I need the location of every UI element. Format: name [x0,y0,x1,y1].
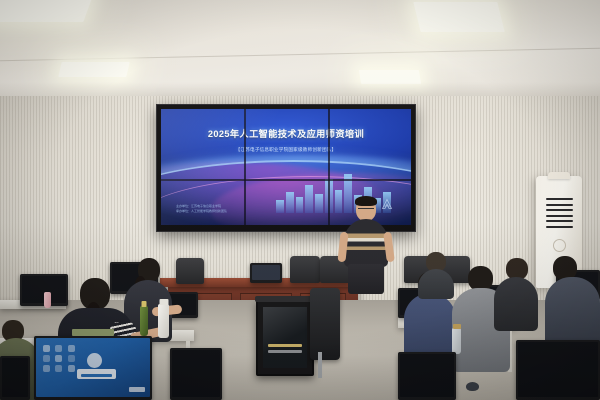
classroom-photo-scene: 2025年人工智能技术及应用师资培训 【江苏电子信息职业学院国家级教师创新团队】… [0,0,600,400]
presentation-footer: 主办单位：江苏电子信息职业学院 承办单位：人工智能学院教师创新团队 [176,204,227,213]
desktop-icon [43,345,50,352]
desktop-icon [55,365,62,372]
login-dialog[interactable] [77,369,116,380]
white-thermos[interactable] [158,304,169,338]
desktop-icon [68,355,75,362]
desktop-icon [68,365,75,372]
ceiling [0,0,600,108]
glasses-icon [358,208,374,211]
windows-login-screen[interactable] [36,338,150,397]
monitor-asset-label [72,329,114,336]
shirt [545,277,600,347]
ceiling-light-panel [0,0,93,22]
monitor[interactable] [398,352,456,400]
panel-seam-vertical [328,109,330,225]
desktop-icon [55,345,62,352]
monitor[interactable] [516,340,600,400]
presenter-hair [355,196,377,206]
ceiling-light-panel [359,70,421,84]
attendee-far-right-man [545,256,600,346]
presenter-trousers [348,264,384,294]
desktop-icons [43,345,77,386]
desktop-icon [43,355,50,362]
pink-cup[interactable] [44,292,51,308]
desktop-icon [68,345,75,352]
rack-patch-panel [268,344,303,347]
bottle-cap [159,299,168,305]
chair-post [318,352,322,378]
computer-mouse[interactable] [466,382,479,391]
desktop-icon [55,355,62,362]
air-conditioner-top-cap [548,172,570,179]
presentation-title: 2025年人工智能技术及应用师资培训 [161,126,411,140]
podium-laptop[interactable] [250,263,282,283]
bottle-cap [453,324,461,329]
taskbar-item[interactable] [129,387,145,392]
vacuum-cup[interactable] [452,328,461,354]
green-glass-bottle[interactable] [140,306,148,336]
network-equipment-rack[interactable] [256,300,314,376]
user-avatar-icon [87,353,102,368]
attendee-back-right-man [494,258,538,328]
foreground-monitor[interactable] [34,336,152,400]
chair[interactable] [176,258,204,284]
ceiling-seam [0,48,600,62]
air-conditioner-dial[interactable] [553,239,566,252]
monitor[interactable] [0,356,30,400]
presenter-polo-shirt [344,219,388,267]
office-chair[interactable] [310,288,340,360]
panel-seam-vertical [244,109,246,225]
air-conditioner-vent [546,198,573,227]
shirt [494,277,538,331]
shirt [418,269,454,299]
ceiling-light-panel [413,2,504,32]
chair[interactable] [290,256,320,283]
login-input[interactable] [81,374,112,377]
presentation-footer-line-2: 承办单位：人工智能学院教师创新团队 [176,209,227,214]
presentation-subtitle: 【江苏电子信息职业学院国家级教师创新团队】 [161,147,411,153]
bottle-cap [142,301,147,307]
ceiling-light-panel [58,62,129,77]
presenter-head [356,198,376,221]
desktop-icon [43,365,50,372]
rack-switch [268,350,303,353]
attendee-back-center-man [418,252,454,296]
panel-seam-horizontal [161,179,411,181]
monitor[interactable] [170,348,222,400]
presenter [338,198,394,294]
rack-glass-door[interactable] [263,307,307,368]
